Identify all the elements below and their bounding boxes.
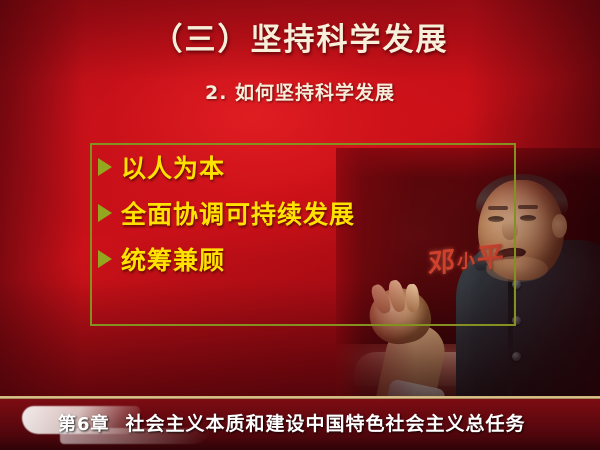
triangle-right-icon [98,158,112,176]
bullet-label: 全面协调可持续发展 [121,195,355,231]
slide-title: （三）坚持科学发展 [0,14,600,59]
bullet-label: 统筹兼顾 [121,241,225,277]
triangle-right-icon [98,204,112,222]
footer-chapter-label: 第6章 [58,410,110,436]
slide-subtitle: 2. 如何坚持科学发展 [0,78,600,105]
footer-banner: 第6章 社会主义本质和建设中国特色社会主义总任务 [0,396,600,450]
bullet-list: 以人为本 全面协调可持续发展 统筹兼顾 [98,146,508,284]
footer-top-rule [0,396,600,399]
bullet-label: 以人为本 [121,149,225,185]
footer-title-label: 社会主义本质和建设中国特色社会主义总任务 [126,409,526,436]
bullet-item: 统筹兼顾 [98,238,508,280]
triangle-right-icon [98,250,112,268]
bullet-item: 以人为本 [98,146,508,188]
presentation-slide: 邓小平 （三）坚持科学发展 2. 如何坚持科学发展 以人为本 全面协调可持续发展… [0,0,600,450]
footer-text-group: 第6章 社会主义本质和建设中国特色社会主义总任务 [58,409,526,436]
bullet-item: 全面协调可持续发展 [98,192,508,234]
